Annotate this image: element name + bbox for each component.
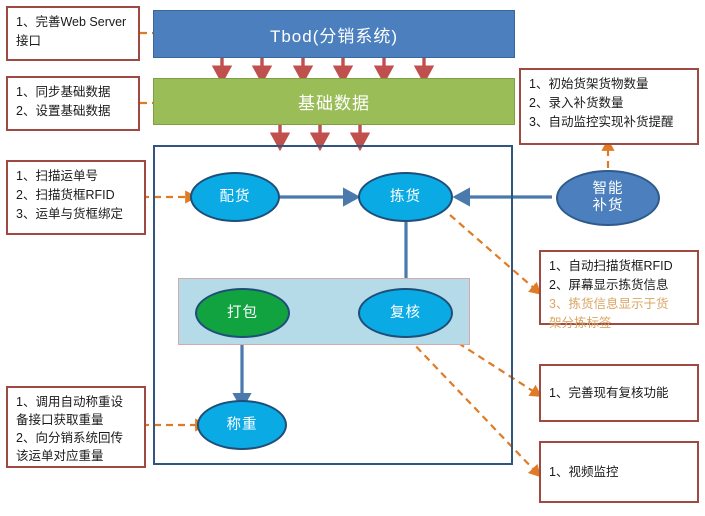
- note-weigh-line-4: 该运单对应重量: [16, 447, 138, 465]
- note-scan-line-2: 2、扫描货框RFID: [16, 186, 138, 205]
- node-jianhuo[interactable]: 拣货: [358, 172, 453, 222]
- note-replenish-line-1: 1、初始货架货物数量: [529, 75, 691, 94]
- note-recheck-line-1: 1、完善现有复核功能: [549, 384, 668, 403]
- node-fuhe-label: 复核: [390, 305, 421, 322]
- node-dabao-label: 打包: [227, 305, 258, 322]
- note-scan: 1、扫描运单号 2、扫描货框RFID 3、运单与货框绑定: [6, 160, 146, 235]
- note-webserver-line-1: 1、完善Web Server: [16, 13, 132, 32]
- node-jianhuo-label: 拣货: [390, 189, 421, 206]
- note-webserver-line-2: 接口: [16, 32, 132, 51]
- node-chengzhong-label: 称重: [227, 417, 258, 434]
- note-weigh: 1、调用自动称重设 备接口获取重量 2、向分销系统回传 该运单对应重量: [6, 386, 146, 468]
- node-peihuo-label: 配货: [220, 189, 251, 206]
- note-weigh-line-1: 1、调用自动称重设: [16, 393, 138, 411]
- note-rfid-line-3: 3、拣货信息显示于货: [549, 295, 691, 314]
- note-weigh-line-3: 2、向分销系统回传: [16, 429, 138, 447]
- note-basedata-line-2: 2、设置基础数据: [16, 102, 132, 121]
- arrows-basedata-to-flow: [280, 125, 360, 140]
- tbod-banner-label: Tbod(分销系统): [270, 22, 398, 47]
- node-chengzhong[interactable]: 称重: [197, 400, 287, 450]
- note-replenish: 1、初始货架货物数量 2、录入补货数量 3、自动监控实现补货提醒: [519, 68, 699, 145]
- note-replenish-line-2: 2、录入补货数量: [529, 94, 691, 113]
- tbod-banner: Tbod(分销系统): [153, 10, 515, 58]
- node-dabao[interactable]: 打包: [195, 288, 290, 338]
- basedata-banner: 基础数据: [153, 78, 515, 125]
- note-replenish-line-3: 3、自动监控实现补货提醒: [529, 113, 691, 132]
- node-zhineng-buhuo-label-line1: 智能: [593, 181, 624, 198]
- node-zhineng-buhuo-label-line2: 补货: [593, 198, 624, 215]
- node-zhineng-buhuo[interactable]: 智能 补货: [556, 170, 660, 226]
- note-basedata-line-1: 1、同步基础数据: [16, 83, 132, 102]
- note-rfid-line-4: 架分拣标签: [549, 314, 691, 333]
- note-rfid: 1、自动扫描货框RFID 2、屏幕显示拣货信息 3、拣货信息显示于货 架分拣标签: [539, 250, 699, 325]
- note-recheck: 1、完善现有复核功能: [539, 364, 699, 422]
- note-basedata: 1、同步基础数据 2、设置基础数据: [6, 76, 140, 131]
- note-rfid-line-2: 2、屏幕显示拣货信息: [549, 276, 691, 295]
- note-weigh-line-2: 备接口获取重量: [16, 411, 138, 429]
- note-video: 1、视频监控: [539, 441, 699, 503]
- note-rfid-line-1: 1、自动扫描货框RFID: [549, 257, 691, 276]
- note-scan-line-1: 1、扫描运单号: [16, 167, 138, 186]
- node-peihuo[interactable]: 配货: [190, 172, 280, 222]
- basedata-banner-label: 基础数据: [298, 89, 370, 114]
- node-fuhe[interactable]: 复核: [358, 288, 453, 338]
- note-video-line-1: 1、视频监控: [549, 463, 618, 482]
- note-scan-line-3: 3、运单与货框绑定: [16, 205, 138, 224]
- note-webserver: 1、完善Web Server 接口: [6, 6, 140, 61]
- diagram-canvas: Tbod(分销系统) 基础数据 配货 拣货 复核 打包 称重 智能 补货 1、完…: [0, 0, 705, 516]
- arrows-tbod-to-basedata: [222, 58, 424, 73]
